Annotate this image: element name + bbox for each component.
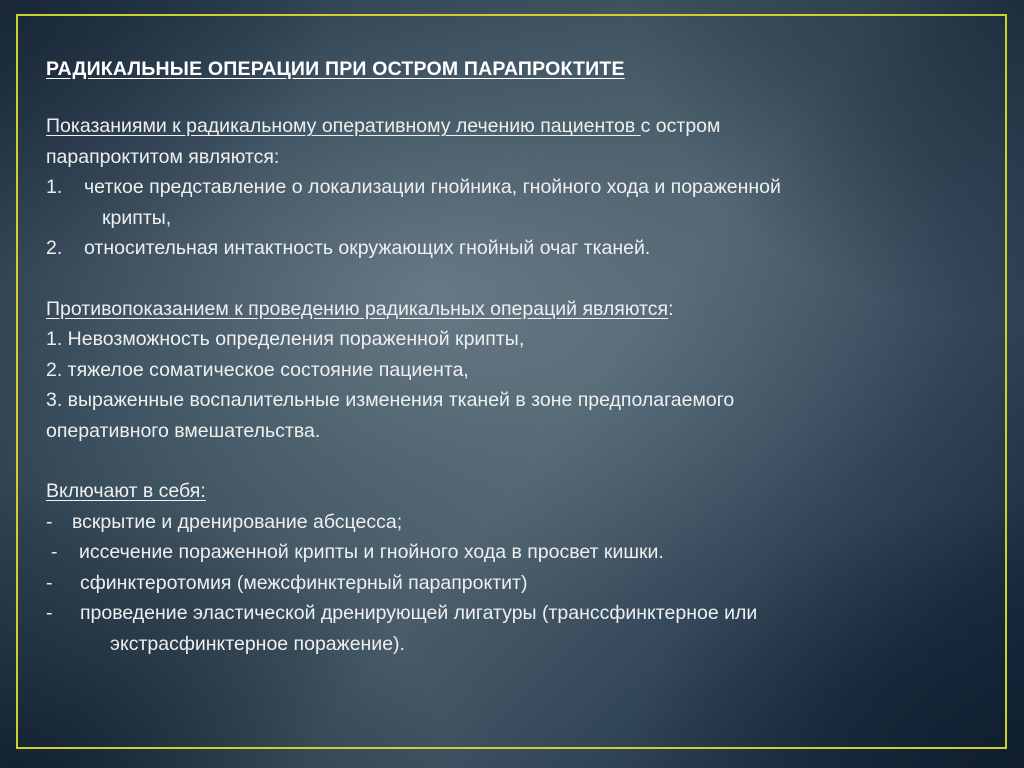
slide-content: РАДИКАЛЬНЫЕ ОПЕРАЦИИ ПРИ ОСТРОМ ПАРАПРОК… [46, 58, 976, 659]
list-item-text-main: проведение эластической дренирующей лига… [80, 602, 757, 624]
indications-lead-underlined: Показаниями к радикальному оперативному … [46, 115, 641, 137]
list-item: 2. относительная интактность окружающих … [46, 233, 976, 264]
list-item: 1. четкое представление о локализации гн… [46, 172, 976, 233]
list-item-text: проведение эластической дренирующей лига… [80, 598, 976, 659]
indications-list: 1. четкое представление о локализации гн… [46, 172, 976, 264]
contraindications-line-4: оперативного вмешательства. [46, 416, 976, 447]
contraindications-lead: Противопоказанием к проведению радикальн… [46, 294, 976, 325]
contraindications-line-1: 1. Невозможность определения пораженной … [46, 324, 976, 355]
list-item-number: 1. [46, 172, 84, 203]
includes-block: Включают в себя: - вскрытие и дренирован… [46, 476, 976, 659]
section-spacer [46, 446, 976, 476]
list-item-text: относительная интактность окружающих гно… [84, 233, 976, 264]
list-item-dash: - [46, 568, 80, 599]
contraindications-block: Противопоказанием к проведению радикальн… [46, 294, 976, 447]
list-item-text: четкое представление о локализации гнойн… [84, 172, 976, 233]
indications-lead-line2: парапроктитом являются: [46, 146, 279, 168]
list-item: - проведение эластической дренирующей ли… [46, 598, 976, 659]
list-item: - вскрытие и дренирование абсцесса; [46, 507, 976, 538]
list-item-text-continuation: экстрасфинктерное поражение). [80, 629, 976, 660]
list-item-text: вскрытие и дренирование абсцесса; [72, 507, 976, 538]
list-item-text-main: относительная интактность окружающих гно… [84, 237, 650, 259]
list-item-text-main: четкое представление о локализации гнойн… [84, 176, 781, 198]
section-spacer [46, 264, 976, 294]
includes-heading-underlined: Включают в себя: [46, 480, 206, 502]
list-item-dash: - [46, 598, 80, 629]
list-item: - сфинктеротомия (межсфинктерный парапро… [46, 568, 976, 599]
list-item-text: сфинктеротомия (межсфинктерный парапрокт… [80, 568, 976, 599]
list-item-dash: - [51, 537, 79, 568]
indications-lead: Показаниями к радикальному оперативному … [46, 111, 976, 172]
list-item-dash: - [46, 507, 72, 538]
includes-list: - вскрытие и дренирование абсцесса; - ис… [46, 507, 976, 660]
contraindications-lead-rest: : [668, 298, 673, 320]
contraindications-lead-underlined: Противопоказанием к проведению радикальн… [46, 298, 668, 320]
presentation-slide: РАДИКАЛЬНЫЕ ОПЕРАЦИИ ПРИ ОСТРОМ ПАРАПРОК… [0, 0, 1024, 768]
contraindications-line-3: 3. выраженные воспалительные изменения т… [46, 385, 976, 416]
list-item-number: 2. [46, 233, 84, 264]
list-item-text: иссечение пораженной крипты и гнойного х… [79, 537, 976, 568]
list-item-text-continuation: крипты, [84, 203, 976, 234]
includes-heading: Включают в себя: [46, 476, 976, 507]
list-item: - иссечение пораженной крипты и гнойного… [46, 537, 976, 568]
indications-lead-rest: с остром [641, 115, 721, 137]
slide-title: РАДИКАЛЬНЫЕ ОПЕРАЦИИ ПРИ ОСТРОМ ПАРАПРОК… [46, 58, 976, 81]
indications-block: Показаниями к радикальному оперативному … [46, 111, 976, 264]
contraindications-line-2: 2. тяжелое соматическое состояние пациен… [46, 355, 976, 386]
